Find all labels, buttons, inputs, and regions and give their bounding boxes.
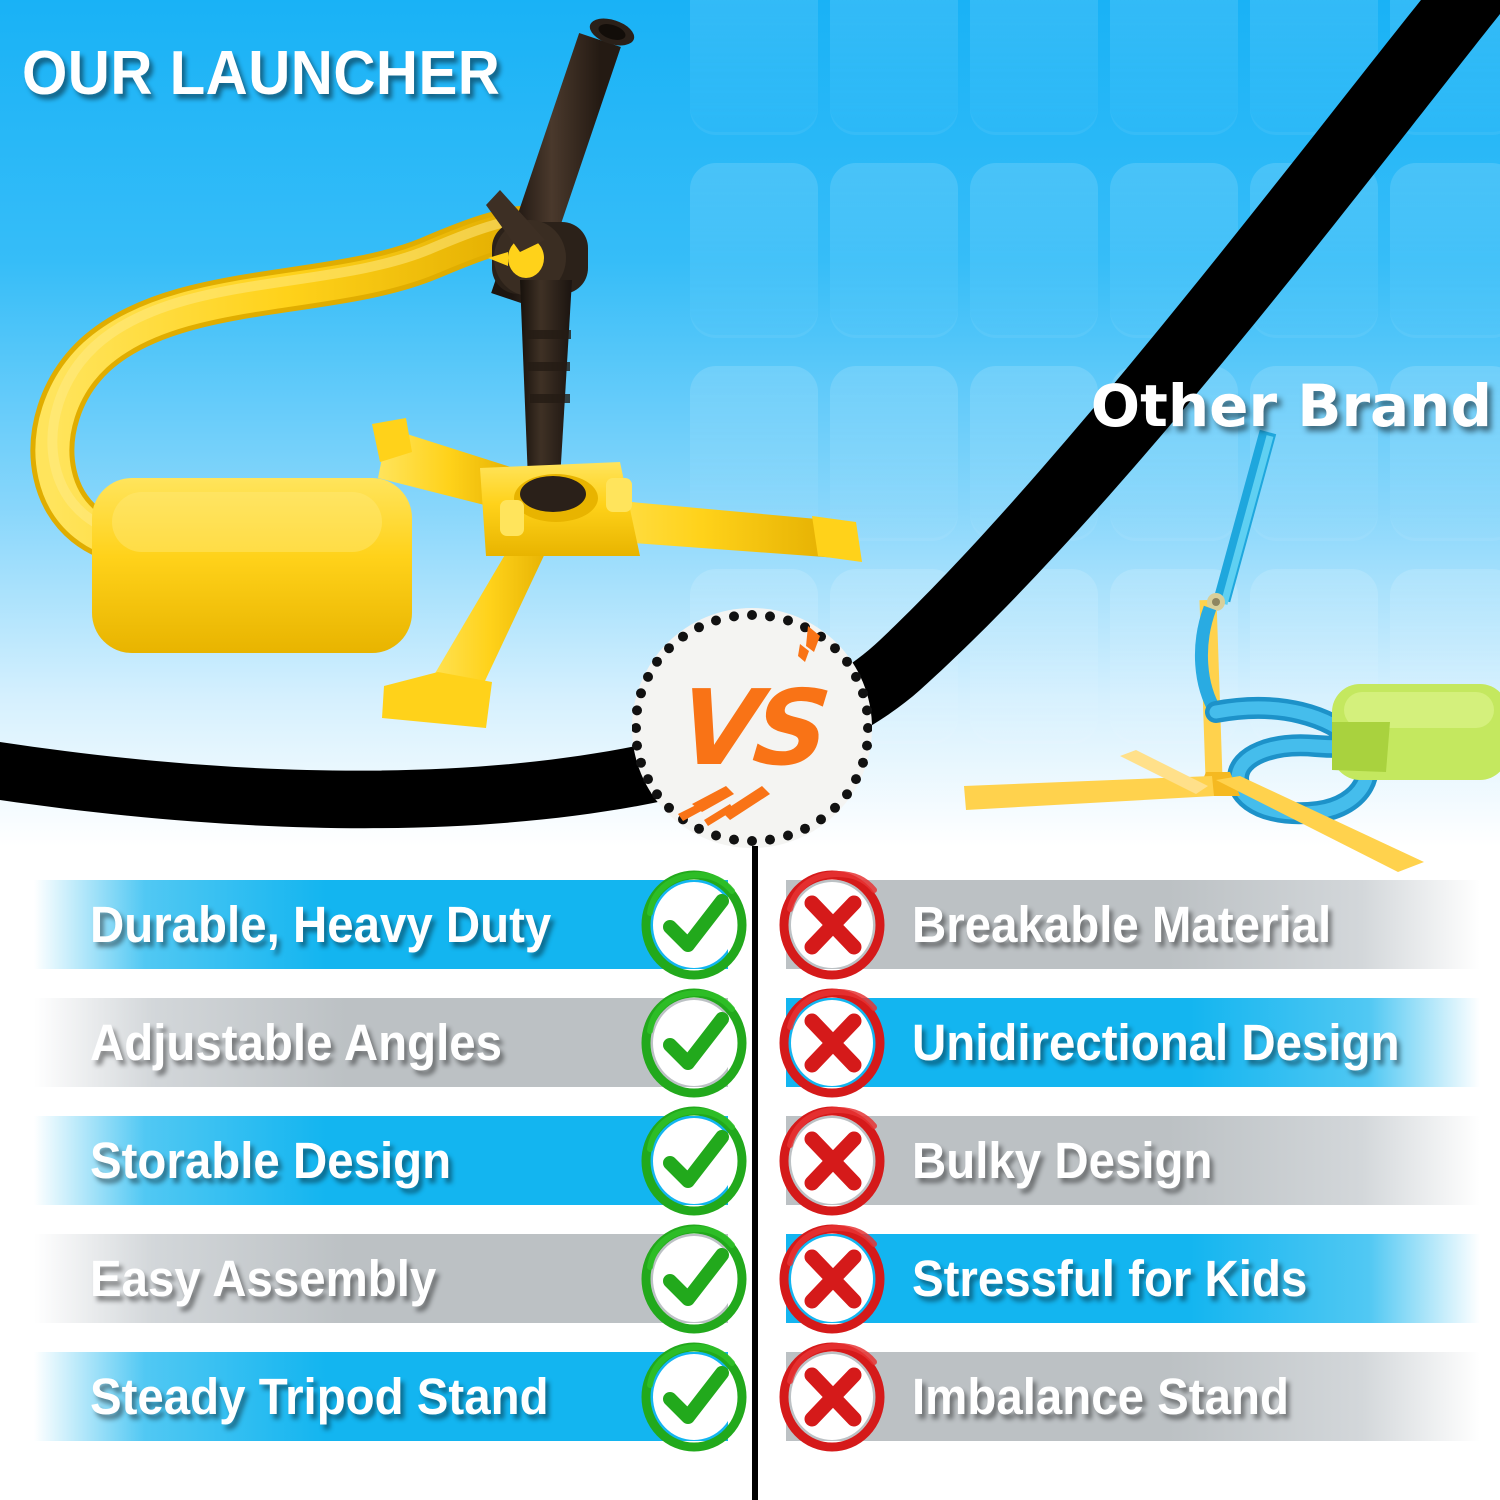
feature-label: Easy Assembly [90,1253,436,1304]
red-cross-icon [776,987,888,1099]
red-cross-icon [776,869,888,981]
table-row: Bulky Design [764,1108,1480,1213]
green-check-icon [638,987,750,1099]
table-row: Storable Design [34,1108,750,1213]
feature-label: Bulky Design [912,1135,1212,1186]
table-row: Stressful for Kids [764,1226,1480,1331]
page-title-theirs: Other Brand [1091,372,1492,440]
red-cross-icon [776,1105,888,1217]
feature-label: Storable Design [90,1135,451,1186]
table-row: Imbalance Stand [764,1344,1480,1449]
table-row: Breakable Material [764,872,1480,977]
hero-photo-area: VS OUR LAUNCHER Other Brand [0,0,1500,872]
vs-badge: VS [632,608,872,848]
feature-label: Unidirectional Design [912,1017,1400,1068]
table-row: Durable, Heavy Duty [34,872,750,977]
table-row: Easy Assembly [34,1226,750,1331]
table-row: Steady Tripod Stand [34,1344,750,1449]
comparison-column-theirs: Breakable Material Unidirectional Design [764,872,1480,1500]
feature-label: Durable, Heavy Duty [90,899,551,950]
page-title-ours: OUR LAUNCHER [22,38,500,109]
feature-label: Imbalance Stand [912,1371,1289,1422]
green-check-icon [638,1341,750,1453]
green-check-icon [638,1223,750,1335]
red-cross-icon [776,1223,888,1335]
table-row: Unidirectional Design [764,990,1480,1095]
comparison-column-ours: Durable, Heavy Duty Adjustable Angles [34,872,750,1500]
feature-label: Stressful for Kids [912,1253,1307,1304]
feature-label: Adjustable Angles [90,1017,502,1068]
table-row: Adjustable Angles [34,990,750,1095]
red-cross-icon [776,1341,888,1453]
comparison-infographic: VS OUR LAUNCHER Other Brand Durable, Hea… [0,0,1500,1500]
feature-label: Breakable Material [912,899,1331,950]
feature-label: Steady Tripod Stand [90,1371,549,1422]
comparison-table: Durable, Heavy Duty Adjustable Angles [0,872,1500,1500]
vs-label: VS [674,667,830,789]
green-check-icon [638,1105,750,1217]
green-check-icon [638,869,750,981]
